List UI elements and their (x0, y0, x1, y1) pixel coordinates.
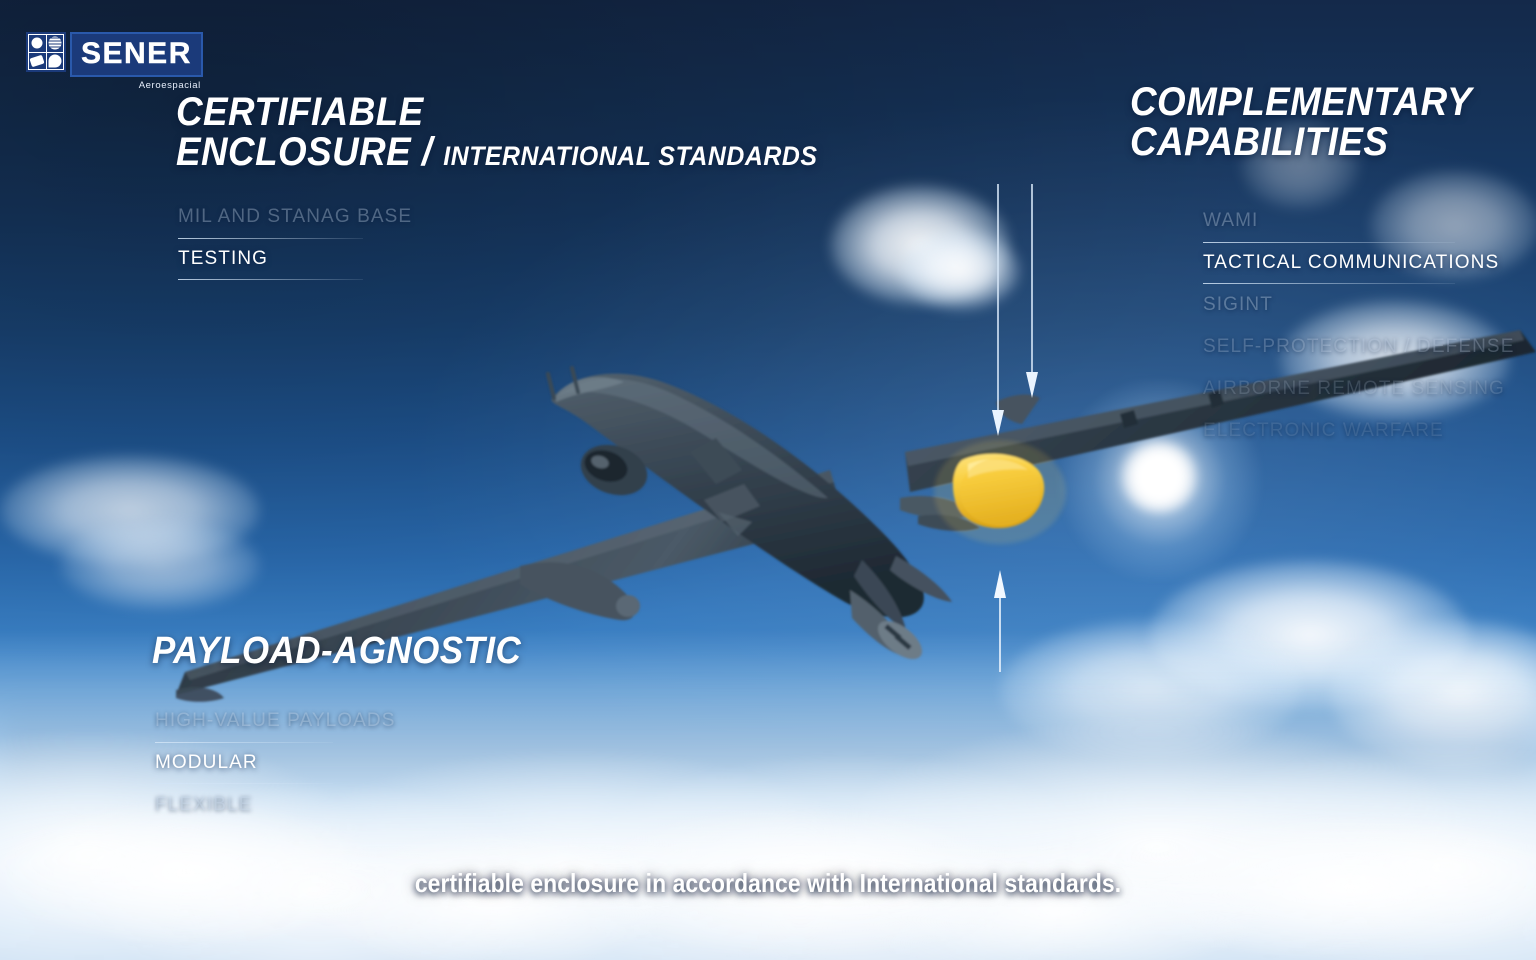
heading-payload-agnostic: PAYLOAD-AGNOSTIC (152, 632, 521, 670)
list-item[interactable]: AIRBORNE REMOTE SENSING (1203, 368, 1514, 410)
heading-line-2: CAPABILITIES (1130, 122, 1472, 162)
list-complementary: WAMI TACTICAL COMMUNICATIONS SIGINT SELF… (1203, 200, 1514, 452)
heading-line-2-subtitle: INTERNATIONAL STANDARDS (443, 141, 817, 171)
list-item[interactable]: FLEXIBLE (155, 784, 396, 826)
list-item[interactable]: ELECTRONIC WARFARE (1203, 410, 1514, 452)
caption-text: certifiable enclosure in accordance with… (92, 868, 1444, 899)
slide-canvas: SENER Aeroespacial CERTIFIABLE ENCLOSURE… (0, 0, 1536, 960)
logo-wordmark: SENER (70, 32, 203, 77)
list-item[interactable]: HIGH-VALUE PAYLOADS (155, 700, 396, 742)
sun-core-icon (1120, 440, 1198, 512)
list-item[interactable]: TACTICAL COMMUNICATIONS (1203, 242, 1514, 284)
heading-line-1: CERTIFIABLE (176, 92, 817, 132)
list-item[interactable]: SELF-PROTECTION / DEFENSE (1203, 326, 1514, 368)
cloud-blob (60, 520, 260, 610)
list-item[interactable]: WAMI (1203, 200, 1514, 242)
heading-line-2-main: ENCLOSURE / (176, 130, 433, 174)
heading-line-1: COMPLEMENTARY (1130, 82, 1472, 122)
list-item[interactable]: TESTING (178, 238, 412, 280)
sener-quadrant-mark-icon (26, 32, 66, 72)
list-payload: HIGH-VALUE PAYLOADS MODULAR FLEXIBLE (155, 700, 396, 826)
heading-line-2: ENCLOSURE / INTERNATIONAL STANDARDS (176, 132, 817, 172)
heading-complementary-capabilities: COMPLEMENTARY CAPABILITIES (1130, 82, 1472, 162)
heading-certifiable-enclosure: CERTIFIABLE ENCLOSURE / INTERNATIONAL ST… (176, 92, 817, 172)
cloud-blob (900, 230, 1020, 310)
list-item[interactable]: MODULAR (155, 742, 396, 784)
list-certifiable: MIL AND STANAG BASE TESTING (178, 196, 412, 280)
heading-line-1: PAYLOAD-AGNOSTIC (152, 632, 521, 670)
sener-logo[interactable]: SENER Aeroespacial (26, 32, 203, 91)
list-item[interactable]: SIGINT (1203, 284, 1514, 326)
list-item[interactable]: MIL AND STANAG BASE (178, 196, 412, 238)
